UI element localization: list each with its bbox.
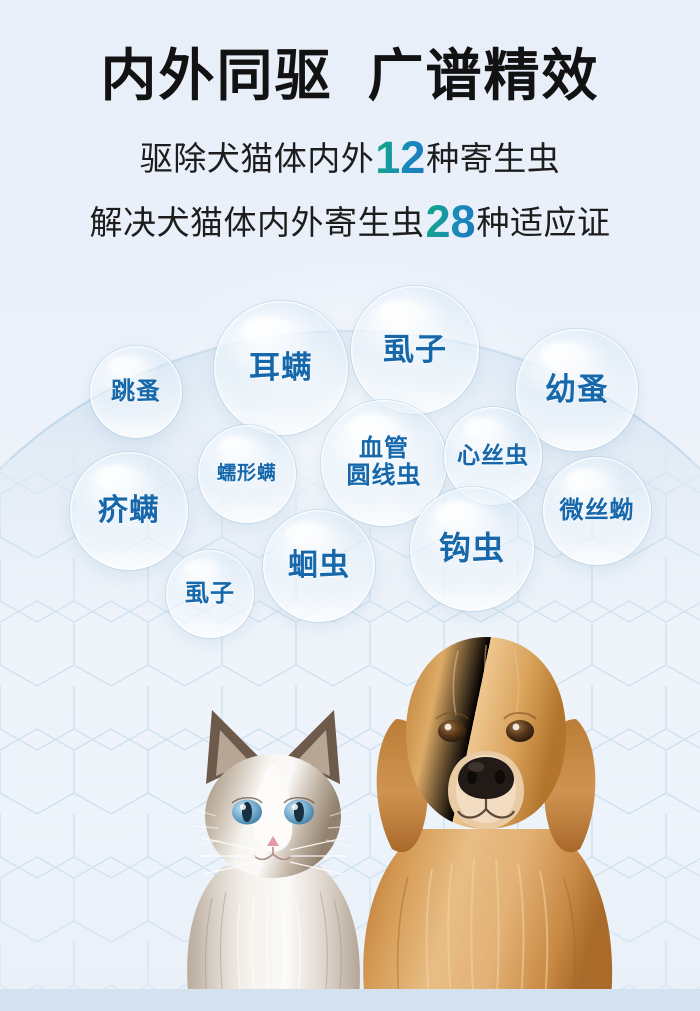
parasite-bubble-label: 虱子 xyxy=(185,581,235,608)
parasite-bubble-label: 蛔虫 xyxy=(288,549,350,583)
parasite-bubble[interactable]: 耳螨 xyxy=(214,301,348,435)
parasite-bubble[interactable]: 疥螨 xyxy=(70,452,188,570)
parasite-bubble[interactable]: 微丝蚴 xyxy=(543,457,651,565)
parasite-bubble-cluster: 跳蚤耳螨虱子幼蚤蠕形螨血管 圆线虫心丝虫疥螨微丝蚴蛔虫钩虫虱子 xyxy=(0,0,700,660)
parasite-bubble-label: 心丝虫 xyxy=(457,443,529,469)
parasite-bubble[interactable]: 蠕形螨 xyxy=(198,425,296,523)
bottom-color-band xyxy=(0,989,700,1011)
cat-image xyxy=(168,666,378,1011)
parasite-bubble-label: 蠕形螨 xyxy=(217,463,277,484)
parasite-bubble-label: 耳螨 xyxy=(249,351,313,386)
promo-poster: 内外同驱 广谱精效 驱除犬猫体内外12种寄生虫 解决犬猫体内外寄生虫28种适应证… xyxy=(0,0,700,1011)
parasite-bubble-label: 疥螨 xyxy=(98,494,160,528)
parasite-bubble-label: 血管 圆线虫 xyxy=(347,436,422,490)
parasite-bubble-label: 幼蚤 xyxy=(545,373,609,408)
parasite-bubble-label: 微丝蚴 xyxy=(560,498,635,525)
parasite-bubble-label: 钩虫 xyxy=(439,531,505,567)
parasite-bubble-label: 跳蚤 xyxy=(111,379,161,406)
pet-photo-group xyxy=(0,591,700,1011)
parasite-bubble[interactable]: 跳蚤 xyxy=(90,346,182,438)
dog-image xyxy=(348,591,623,1011)
parasite-bubble[interactable]: 虱子 xyxy=(351,286,479,414)
parasite-bubble-label: 虱子 xyxy=(383,333,447,368)
